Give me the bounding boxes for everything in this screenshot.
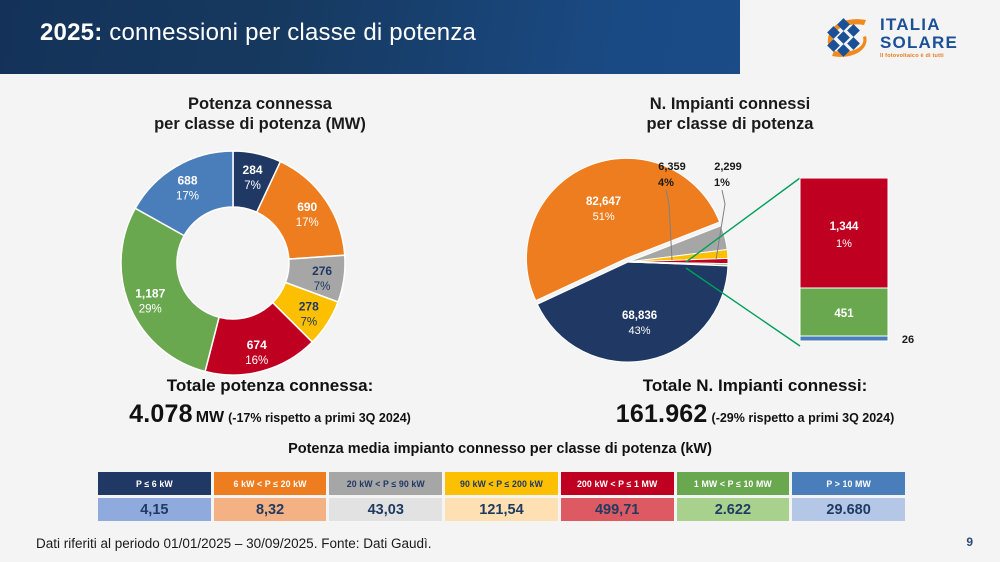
- donut-slice-value: 690: [297, 200, 317, 214]
- table-header-cell: 20 kW < P ≤ 90 kW: [329, 472, 442, 495]
- logo-wordmark: ITALIA SOLARE Il fotovoltaico è di tutti: [880, 16, 958, 60]
- callout-bar-segment: [800, 178, 888, 288]
- donut-slice-percent: 17%: [296, 217, 319, 229]
- donut-chart-potenza: 2847%69017%2767%2787%67416%1,18729%68817…: [118, 148, 348, 378]
- left-total-block: Totale potenza connessa: 4.078MW(-17% ri…: [60, 376, 480, 429]
- table-value-cell: 4,15: [98, 498, 211, 521]
- right-total-note: (-29% rispetto a primi 3Q 2024): [712, 411, 895, 425]
- table-header-cell: 200 kW < P ≤ 1 MW: [561, 472, 674, 495]
- table-header-cell: 1 MW < P ≤ 10 MW: [677, 472, 790, 495]
- table-header-cell: 90 kW < P ≤ 200 kW: [445, 472, 558, 495]
- page-number: 9: [966, 535, 973, 549]
- pie-chart-svg: 68,83643%82,64751%6,3594%2,2991%1,3441%4…: [520, 150, 920, 380]
- table-header-cell: 6 kW < P ≤ 20 kW: [214, 472, 327, 495]
- right-chart-title: N. Impianti connessi per classe di poten…: [560, 94, 900, 134]
- power-class-table: P ≤ 6 kW6 kW < P ≤ 20 kW20 kW < P ≤ 90 k…: [95, 469, 908, 524]
- table-value-cell: 499,71: [561, 498, 674, 521]
- logo-line-solare: SOLARE: [880, 34, 958, 51]
- right-chart-title-line1: N. Impianti connessi: [560, 94, 900, 114]
- donut-slice-percent: 7%: [244, 180, 261, 192]
- left-total-caption: Totale potenza connessa:: [60, 376, 480, 396]
- right-chart-title-line2: per classe di potenza: [560, 114, 900, 134]
- left-chart-title-line1: Potenza connessa: [95, 94, 425, 114]
- pie-outside-percent: 1%: [714, 177, 730, 189]
- page-title-year: 2025:: [40, 19, 102, 46]
- right-total-value: 161.962: [616, 400, 708, 428]
- pie-slice-value: 82,647: [586, 196, 621, 208]
- pie-chart-impianti: 68,83643%82,64751%6,3594%2,2991%1,3441%4…: [520, 150, 920, 380]
- donut-slice-value: 284: [243, 163, 263, 177]
- left-chart-title-line2: per classe di potenza (MW): [95, 114, 425, 134]
- table-header-cell: P ≤ 6 kW: [98, 472, 211, 495]
- table-value-cell: 2.622: [677, 498, 790, 521]
- right-total-caption: Totale N. Impianti connessi:: [540, 376, 970, 396]
- table-value-cell: 121,54: [445, 498, 558, 521]
- italia-solare-logo: ITALIA SOLARE Il fotovoltaico è di tutti: [822, 12, 982, 64]
- donut-slice-value: 278: [299, 300, 319, 314]
- donut-slice-percent: 29%: [139, 303, 162, 315]
- table-value-cell: 43,03: [329, 498, 442, 521]
- donut-slice-value: 276: [312, 264, 332, 278]
- pie-slice-percent: 43%: [629, 325, 651, 337]
- right-total-block: Totale N. Impianti connessi: 161.962(-29…: [540, 376, 970, 429]
- callout-segment-percent: 1%: [836, 238, 852, 250]
- donut-slice-percent: 7%: [300, 317, 317, 329]
- pie-outside-percent: 4%: [658, 177, 674, 189]
- donut-chart-svg: 2847%69017%2767%2787%67416%1,18729%68817…: [118, 148, 348, 378]
- pie-outside-value: 2,299: [714, 161, 742, 173]
- donut-slice-percent: 16%: [245, 355, 268, 367]
- donut-slice-percent: 7%: [314, 281, 331, 293]
- donut-slice-percent: 17%: [176, 190, 199, 202]
- page-title: 2025: connessioni per classe di potenza: [40, 19, 476, 47]
- donut-slice-value: 688: [177, 173, 197, 187]
- table-value-cell: 29.680: [792, 498, 905, 521]
- left-chart-title: Potenza connessa per classe di potenza (…: [95, 94, 425, 134]
- logo-tagline: Il fotovoltaico è di tutti: [880, 54, 958, 60]
- callout-segment-value: 1,344: [830, 221, 859, 233]
- donut-slice-value: 1,187: [135, 286, 165, 300]
- solar-panel-diamond-icon: [822, 14, 874, 62]
- left-total-unit: MW: [196, 409, 224, 426]
- callout-segment-value: 26: [902, 334, 914, 346]
- pie-outside-value: 6,359: [658, 161, 686, 173]
- donut-slice-value: 674: [247, 338, 267, 352]
- table-header-cell: P > 10 MW: [792, 472, 905, 495]
- pie-slice-value: 68,836: [622, 310, 657, 322]
- pie-slice-percent: 51%: [593, 211, 615, 223]
- table-value-row: 4,158,3243,03121,54499,712.62229.680: [98, 498, 905, 521]
- left-total-note: (-17% rispetto a primi 3Q 2024): [228, 411, 411, 425]
- callout-segment-value: 451: [834, 308, 854, 320]
- left-total-value: 4.078: [129, 400, 193, 428]
- table-header-row: P ≤ 6 kW6 kW < P ≤ 20 kW20 kW < P ≤ 90 k…: [98, 472, 905, 495]
- callout-bar-segment: [800, 336, 888, 341]
- footer-source-note: Dati riferiti al periodo 01/01/2025 – 30…: [36, 536, 432, 551]
- page-title-rest: connessioni per classe di potenza: [102, 19, 476, 46]
- slide-root: 2025: connessioni per classe di potenza …: [0, 0, 1000, 562]
- table-value-cell: 8,32: [214, 498, 327, 521]
- legend-table-title: Potenza media impianto connesso per clas…: [0, 441, 1000, 457]
- logo-line-italia: ITALIA: [880, 16, 958, 33]
